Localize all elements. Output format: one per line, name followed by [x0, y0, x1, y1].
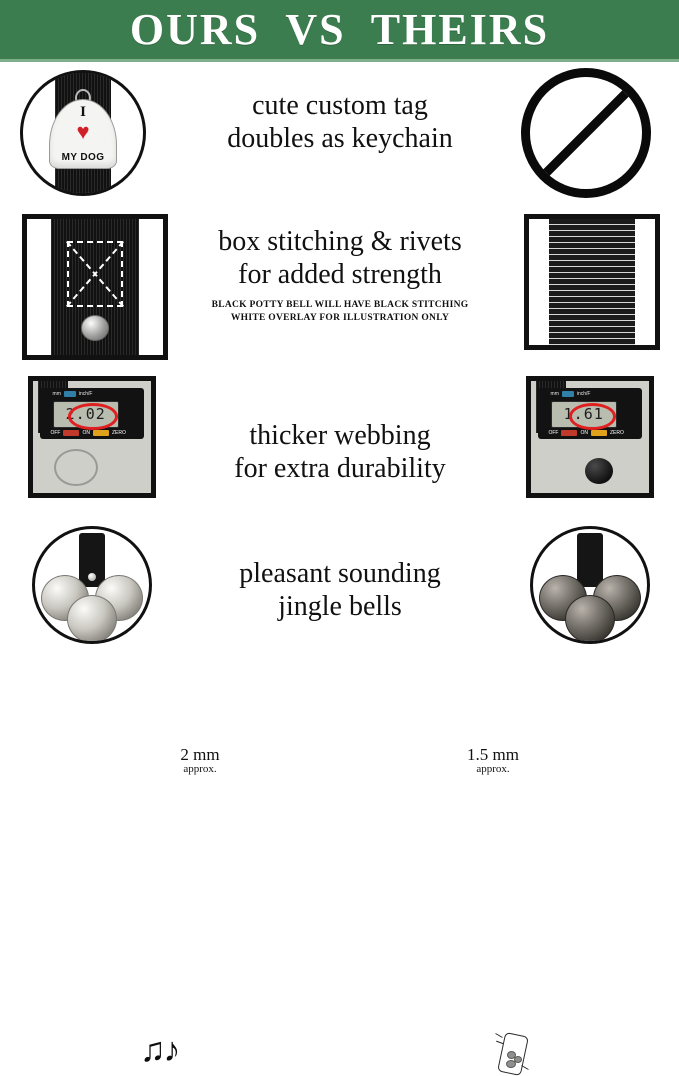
disclaimer-line-2: WHITE OVERLAY FOR ILLUSTRATION ONLY	[150, 312, 530, 326]
theirs-thickness-label: 1.5 mm approx.	[450, 746, 536, 775]
caliper-unit-switch	[562, 391, 574, 397]
feature-text-3: thicker webbing for extra durability	[150, 420, 530, 486]
music-notes-icon: ♫♪	[140, 1034, 179, 1068]
caliper-button-bar: OFF ON ZERO	[50, 429, 133, 437]
stitching-disclaimer: BLACK POTTY BELL WILL HAVE BLACK STITCHI…	[150, 299, 530, 327]
comparison-row-3: mm inch/F 2.02 OFF ON ZERO 2 mm app	[0, 368, 679, 508]
caliper-zero-button	[93, 430, 109, 436]
motion-line-icon	[495, 1033, 502, 1038]
caliper-off-label: OFF	[548, 430, 558, 436]
heart-icon: ♥	[76, 121, 89, 143]
comparison-infographic: OURS VS THEIRS I ♥ MY DOG cute custom ta…	[0, 0, 679, 649]
jingle-bell	[565, 595, 615, 643]
ours-thickness-label: 2 mm approx.	[160, 746, 240, 775]
feature-line-1a: cute custom tag	[150, 90, 530, 123]
tag-text-my-dog: MY DOG	[50, 152, 116, 163]
caliper-jaw	[54, 449, 98, 487]
ours-photo-jingle-bells	[32, 526, 152, 644]
feature-line-3b: for extra durability	[150, 453, 530, 486]
theirs-photo-dull-bells	[530, 526, 650, 644]
caliper-zero-label: ZERO	[112, 430, 126, 436]
page-title: OURS VS THEIRS	[130, 8, 549, 52]
caliper-button-bar: OFF ON ZERO	[548, 429, 631, 437]
ours-thickness-value: 2 mm	[160, 746, 240, 764]
theirs-photo-caliper: mm inch/F 1.61 OFF ON ZERO	[526, 376, 654, 498]
webbing-strap	[51, 219, 139, 355]
feature-line-3a: thicker webbing	[150, 420, 530, 453]
box-stitch-overlay	[67, 241, 123, 307]
comparison-row-4: ♫♪ pleasant sounding jingle bells	[0, 508, 679, 649]
feature-text-2: box stitching & rivets for added strengt…	[150, 226, 530, 326]
feature-line-2a: box stitching & rivets	[150, 226, 530, 259]
feature-line-4a: pleasant sounding	[150, 558, 530, 591]
disclaimer-line-1: BLACK POTTY BELL WILL HAVE BLACK STITCHI…	[150, 299, 530, 313]
caliper-unit-inch: inch/F	[79, 391, 93, 397]
theirs-thickness-approx: approx.	[450, 764, 536, 776]
feature-line-2b: for added strength	[150, 259, 530, 292]
ours-photo-box-stitching	[22, 214, 168, 360]
rivet	[81, 315, 109, 341]
caliper-unit-mm: mm	[53, 391, 61, 397]
thin-webbing-strap	[549, 219, 635, 345]
caliper-unit-mm: mm	[551, 391, 559, 397]
caliper-on-label: ON	[82, 430, 90, 436]
pebble	[506, 1060, 516, 1068]
theirs-thickness-value: 1.5 mm	[450, 746, 536, 764]
caliper-on-button	[561, 430, 577, 436]
feature-line-1b: doubles as keychain	[150, 123, 530, 156]
caliper-unit-inch: inch/F	[577, 391, 591, 397]
caliper-on-label: ON	[580, 430, 588, 436]
theirs-photo-plain-stitching	[524, 214, 660, 350]
header-banner: OURS VS THEIRS	[0, 0, 679, 59]
caliper-knob	[585, 458, 613, 484]
ours-photo-caliper: mm inch/F 2.02 OFF ON ZERO	[28, 376, 156, 498]
feature-line-4b: jingle bells	[150, 591, 530, 624]
shaking-can-icon	[495, 1029, 529, 1075]
caliper-zero-label: ZERO	[610, 430, 624, 436]
caliper-on-button	[63, 430, 79, 436]
caliper-unit-switch	[64, 391, 76, 397]
caliper-unit-bar: mm inch/F	[53, 391, 119, 398]
feature-text-1: cute custom tag doubles as keychain	[150, 90, 530, 156]
comparison-row-2: box stitching & rivets for added strengt…	[0, 206, 679, 366]
banner-underline	[0, 59, 679, 62]
caliper-off-label: OFF	[50, 430, 60, 436]
jingle-bell	[67, 595, 117, 643]
tag-letter-i: I	[80, 105, 86, 120]
comparison-row-1: I ♥ MY DOG cute custom tag doubles as ke…	[0, 66, 679, 206]
bell-strap	[577, 533, 603, 587]
ours-thickness-approx: approx.	[160, 764, 240, 776]
theirs-no-symbol	[521, 68, 651, 198]
feature-text-4: pleasant sounding jingle bells	[150, 558, 530, 624]
caliper-unit-bar: mm inch/F	[551, 391, 617, 398]
caliper-zero-button	[591, 430, 607, 436]
ours-photo-custom-tag: I ♥ MY DOG	[20, 70, 146, 196]
